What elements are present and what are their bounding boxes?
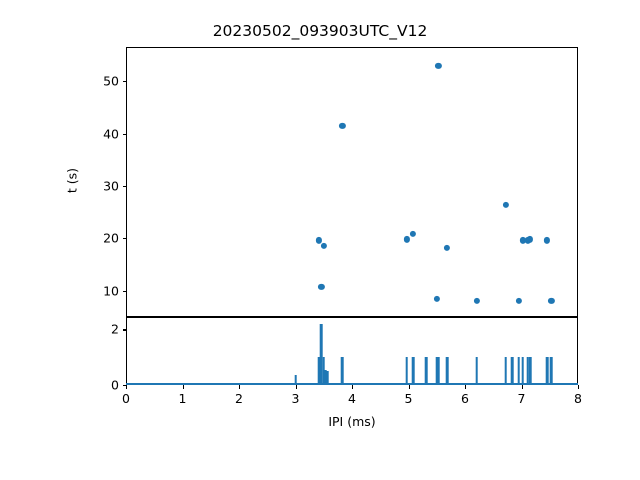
- histogram-bar: [412, 357, 415, 385]
- x-axis-tick-mark: [126, 385, 127, 389]
- histogram-bar: [437, 357, 440, 385]
- histogram-y-tick-label: 0: [111, 378, 119, 393]
- y-axis-tick-mark: [123, 186, 127, 187]
- y-axis-label: t (s): [65, 161, 80, 201]
- y-axis-tick-label: 50: [103, 74, 119, 89]
- x-axis-tick-label: 4: [348, 391, 356, 406]
- histogram-bar: [341, 357, 344, 385]
- x-axis-tick-label: 1: [179, 391, 187, 406]
- x-axis-tick-label: 0: [122, 391, 130, 406]
- histogram-bar: [511, 357, 514, 385]
- x-axis-tick-mark: [409, 385, 410, 389]
- x-axis-tick-mark: [239, 385, 240, 389]
- y-axis-tick-mark: [123, 291, 127, 292]
- histogram-y-tick-label: 2: [111, 322, 119, 337]
- x-axis-tick-mark: [578, 385, 579, 389]
- x-axis-tick-label: 3: [292, 391, 300, 406]
- x-axis-tick-label: 6: [461, 391, 469, 406]
- x-axis-tick-mark: [183, 385, 184, 389]
- x-axis-label: IPI (ms): [328, 414, 375, 429]
- histogram-y-tick-mark: [123, 329, 127, 330]
- x-axis-tick-mark: [465, 385, 466, 389]
- y-axis-tick-label: 30: [103, 178, 119, 193]
- x-axis-tick-label: 5: [405, 391, 413, 406]
- histogram-bar: [446, 357, 449, 385]
- histogram-bar: [546, 357, 549, 385]
- figure-canvas: 20230502_093903UTC_V12 1020304050 t (s) …: [0, 0, 640, 480]
- y-axis-tick-label: 40: [103, 126, 119, 141]
- y-axis-tick-label: 20: [103, 231, 119, 246]
- x-axis-tick-label: 8: [574, 391, 582, 406]
- histogram-bar: [425, 357, 428, 385]
- histogram-bar: [504, 357, 507, 385]
- y-axis-tick-mark: [123, 238, 127, 239]
- x-axis-tick-mark: [296, 385, 297, 389]
- scatter-panel-axes: [126, 47, 578, 317]
- histogram-bar: [406, 357, 409, 385]
- histogram-bar: [550, 357, 553, 385]
- histogram-bar: [517, 357, 520, 385]
- y-axis-tick-mark: [123, 134, 127, 135]
- y-axis-tick-mark: [123, 81, 127, 82]
- histogram-bar: [521, 357, 524, 385]
- y-axis-tick-label: 10: [103, 283, 119, 298]
- figure-title: 20230502_093903UTC_V12: [0, 22, 640, 40]
- x-axis-tick-mark: [522, 385, 523, 389]
- x-axis-tick-label: 7: [518, 391, 526, 406]
- x-axis-tick-mark: [352, 385, 353, 389]
- histogram-bar: [529, 357, 532, 385]
- histogram-bar: [476, 357, 479, 385]
- x-axis-tick-label: 2: [235, 391, 243, 406]
